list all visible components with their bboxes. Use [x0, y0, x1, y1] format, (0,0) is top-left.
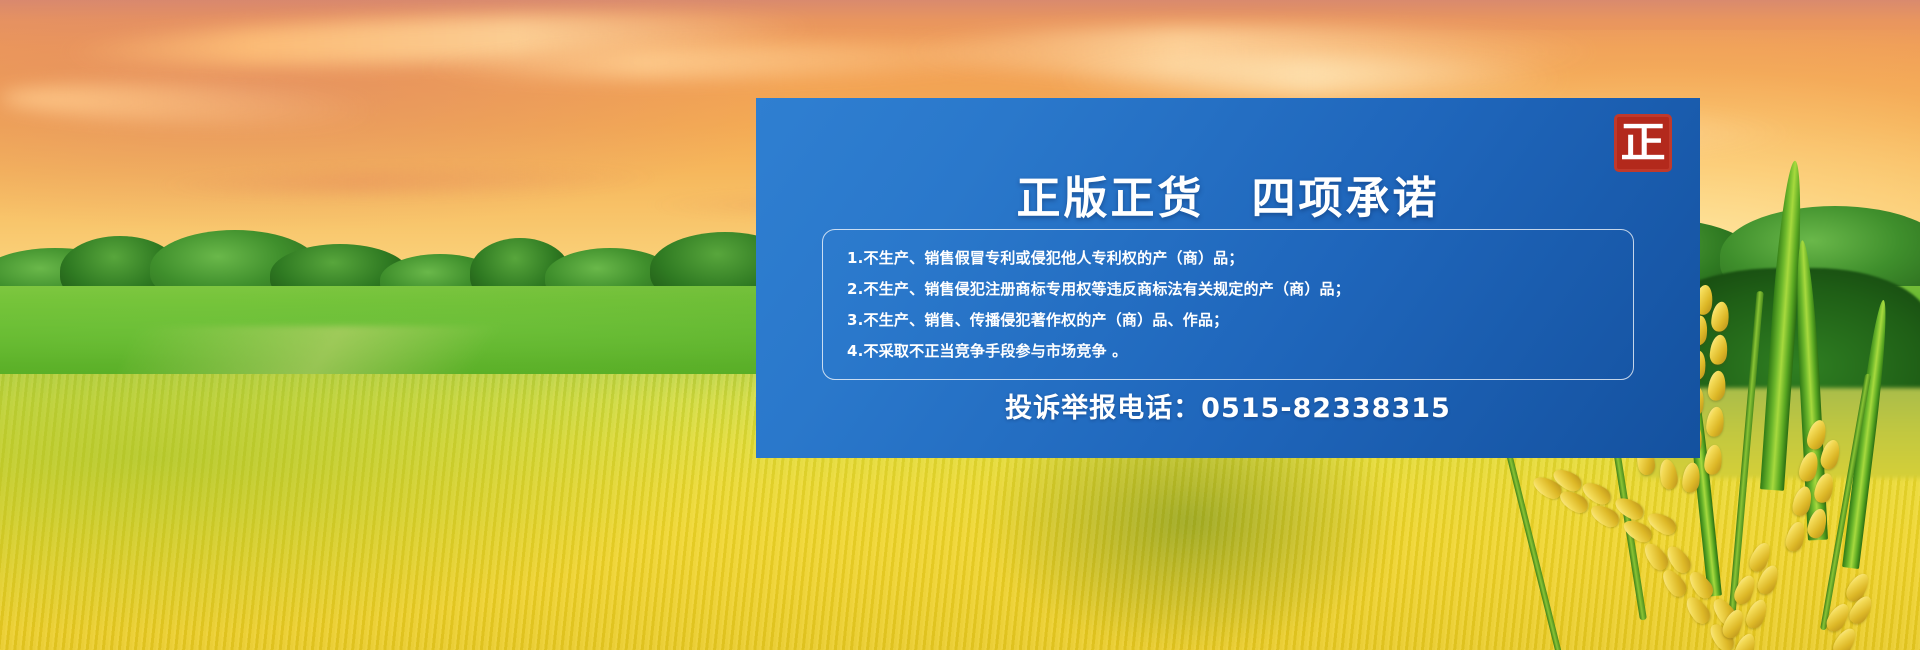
cloud-streak — [1050, 58, 1570, 98]
promise-item: 1.不生产、销售假冒专利或侵犯他人专利权的产（商）品； — [847, 243, 1609, 274]
promise-item: 3.不生产、销售、传播侵犯著作权的产（商）品、作品； — [847, 305, 1609, 336]
zheng-seal-character: 正 — [1620, 122, 1665, 164]
promise-item: 2.不生产、销售侵犯注册商标专用权等违反商标法有关规定的产（商）品； — [847, 274, 1609, 305]
rice-field-highlight — [0, 374, 760, 650]
rice-field-shadow — [980, 436, 1400, 650]
panel-title: 正版正货 四项承诺 — [756, 162, 1700, 226]
promise-list: 1.不生产、销售假冒专利或侵犯他人专利权的产（商）品； 2.不生产、销售侵犯注册… — [822, 229, 1634, 380]
complaint-hotline: 投诉举报电话：0515-82338315 — [756, 386, 1700, 425]
banner-stage: 正 正版正货 四项承诺 1.不生产、销售假冒专利或侵犯他人专利权的产（商）品； … — [0, 0, 1920, 650]
promise-item: 4.不采取不正当竞争手段参与市场竞争 。 — [847, 336, 1609, 367]
promise-panel: 正 正版正货 四项承诺 1.不生产、销售假冒专利或侵犯他人专利权的产（商）品； … — [756, 98, 1700, 458]
